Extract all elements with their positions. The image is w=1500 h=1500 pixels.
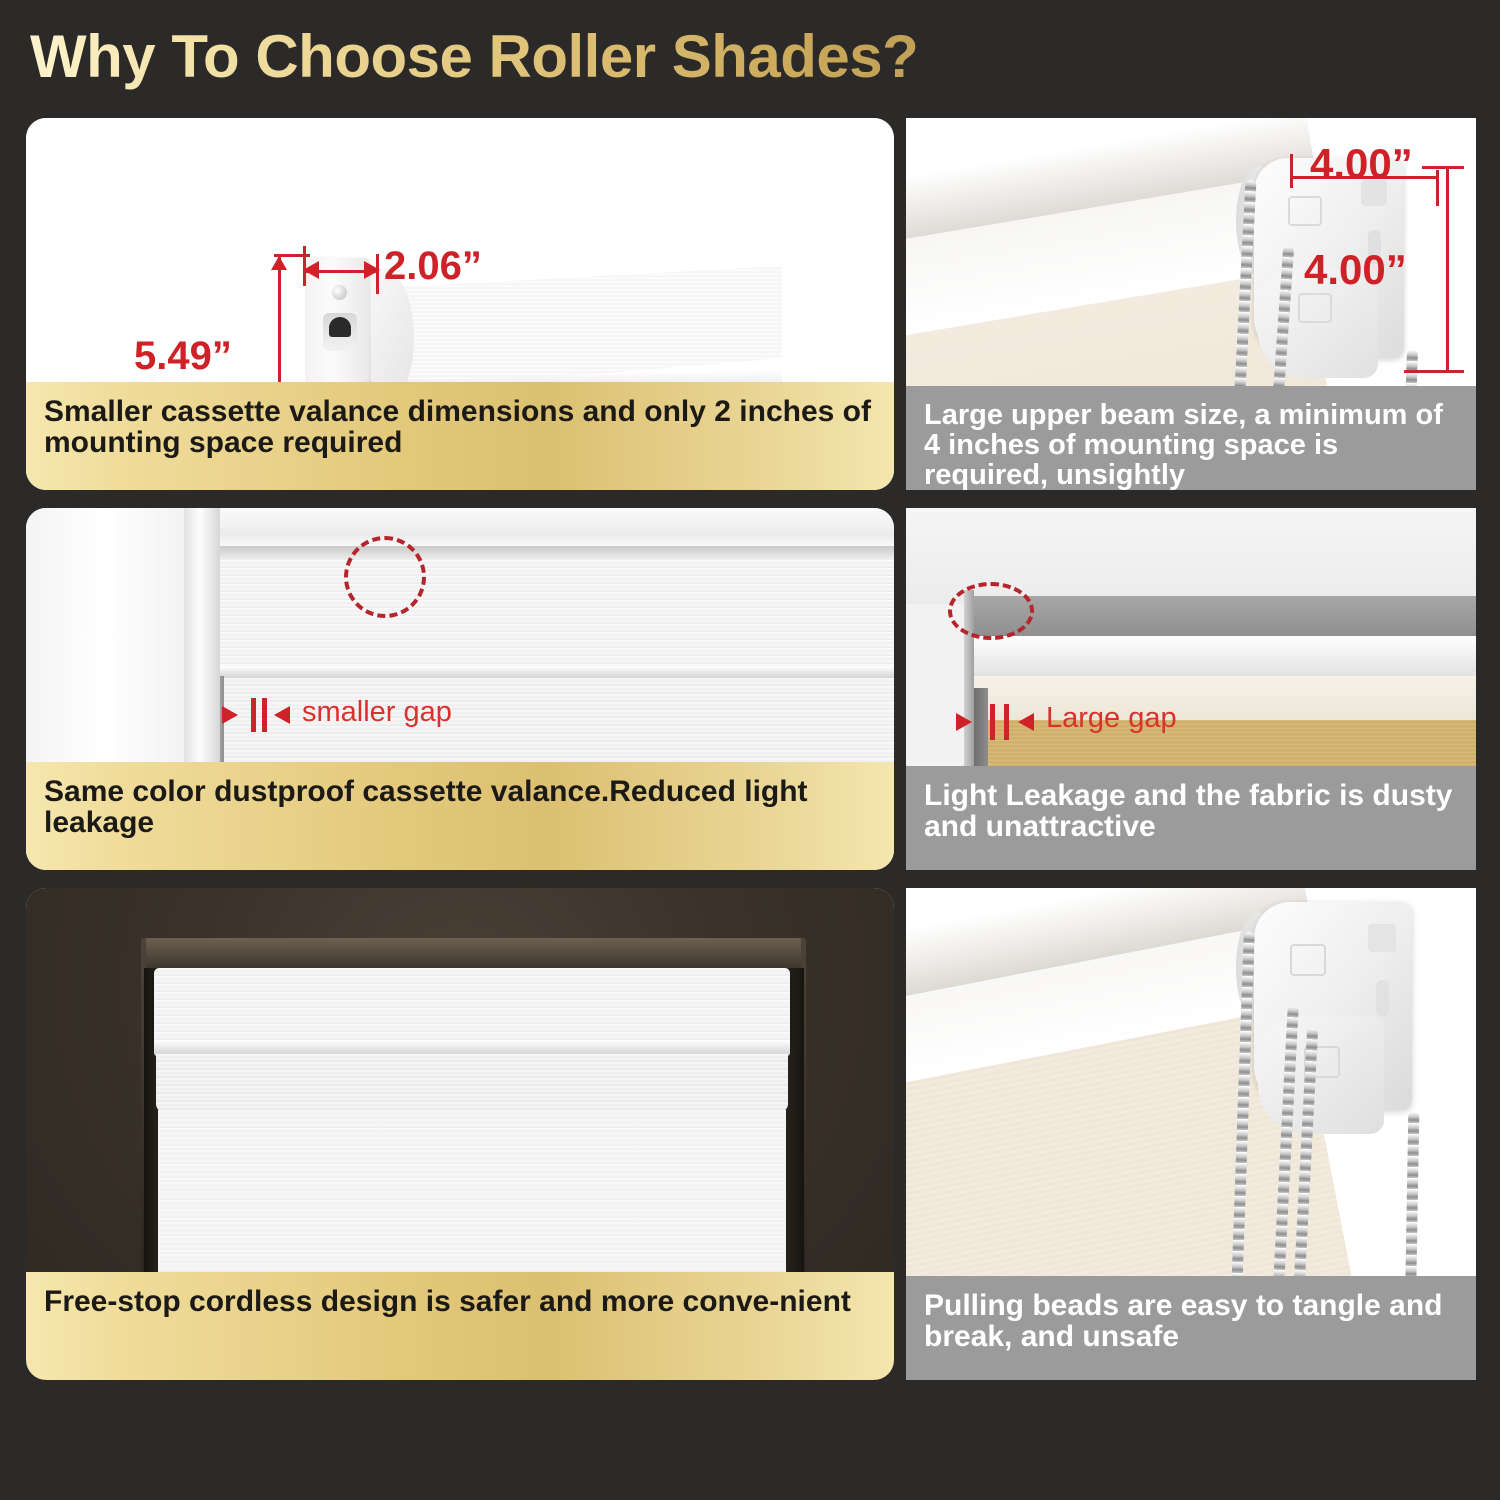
infographic-page: Why To Choose Roller Shades? [0,0,1500,1500]
bracket-emboss-upper [1290,944,1326,976]
dimension-label-width: 2.06” [384,244,482,289]
endcap-screw-upper [332,285,347,300]
shade-divider-rail [216,666,894,678]
cassette-valance [154,968,790,1046]
gap-callout-label: smaller gap [302,696,452,729]
highlight-dashed-circle [948,582,1034,640]
panel-4-caption: Light Leakage and the fabric is dusty an… [906,766,1476,870]
panel-2-caption: Large upper beam size, a minimum of 4 in… [906,386,1476,490]
dim-line-right-400 [1446,166,1449,372]
dim-arrow-left-206 [303,261,319,279]
panel-3-caption: Same color dustproof cassette valance.Re… [26,762,894,870]
bracket-emboss-lower [1298,293,1332,323]
white-beam [966,636,1476,678]
panel-free-stop-cordless-design: Free-stop cordless design is safer and m… [26,888,894,1380]
window-reveal-top [146,938,801,970]
window-frame-edge [184,508,220,798]
highlight-dashed-circle [344,536,426,618]
cassette-valance-lower [156,1054,788,1112]
panel-2-caption-text: Large upper beam size, a minimum of 4 in… [924,400,1460,490]
cassette-valance-edge [218,546,894,560]
panel-large-upper-beam: 4.00” 4.00” Large upper beam size, a min… [906,118,1476,490]
endcap-slot-upper [323,313,357,351]
panel-cassette-valance-dimensions: 2.06” 5.49” Smaller cassette valance dim… [26,118,894,490]
panel-1-caption-text: Smaller cassette valance dimensions and … [44,396,878,458]
upper-beam-shadow [966,596,1476,638]
panel-5-caption-text: Free-stop cordless design is safer and m… [44,1286,851,1317]
gap-marker-bar-right [262,698,267,732]
gap-marker-bar-left [251,698,256,732]
dim-tick-top-400v [1422,166,1464,169]
panel-3-caption-text: Same color dustproof cassette valance.Re… [44,776,878,838]
dimension-label-height: 5.49” [134,334,232,379]
dim-tick-left-400h [1290,154,1293,188]
gap-arrow-right [222,706,238,724]
shade-fabric-upper [218,560,894,668]
dim-arrow-up-549 [271,256,287,270]
bracket-notch-lower [1376,980,1389,1016]
cream-fabric-band [968,676,1476,722]
panel-5-caption: Free-stop cordless design is safer and m… [26,1272,894,1380]
gap-arrow-left [1018,713,1034,731]
dimension-label-height: 4.00” [1304,246,1407,294]
panel-light-leakage-dusty-fabric: Large gap Light Leakage and the fabric i… [906,508,1476,870]
panel-4-caption-text: Light Leakage and the fabric is dusty an… [924,780,1460,842]
dim-tick-right-400h [1436,170,1439,206]
gap-marker-bar-left [990,704,995,740]
panel-6-caption-text: Pulling beads are easy to tangle and bre… [924,1290,1460,1352]
gap-arrow-left [274,706,290,724]
gap-marker-bar-right [1004,704,1009,740]
dim-tick-bottom-400v [1404,370,1464,373]
bracket-notch-upper [1368,924,1396,952]
gap-arrow-right [956,713,972,731]
dimension-label-width: 4.00” [1310,140,1413,188]
panel-dustproof-cassette-valance: smaller gap Same color dustproof cassett… [26,508,894,870]
panel-pulling-beads-tangle: Pulling beads are easy to tangle and bre… [906,888,1476,1380]
gap-callout-label: Large gap [1046,702,1177,735]
panel-6-caption: Pulling beads are easy to tangle and bre… [906,1276,1476,1380]
panel-1-caption: Smaller cassette valance dimensions and … [26,382,894,490]
panel-grid: 2.06” 5.49” Smaller cassette valance dim… [0,0,1500,1500]
bracket-emboss-upper [1288,196,1322,226]
dim-arrow-right-206 [364,261,380,279]
